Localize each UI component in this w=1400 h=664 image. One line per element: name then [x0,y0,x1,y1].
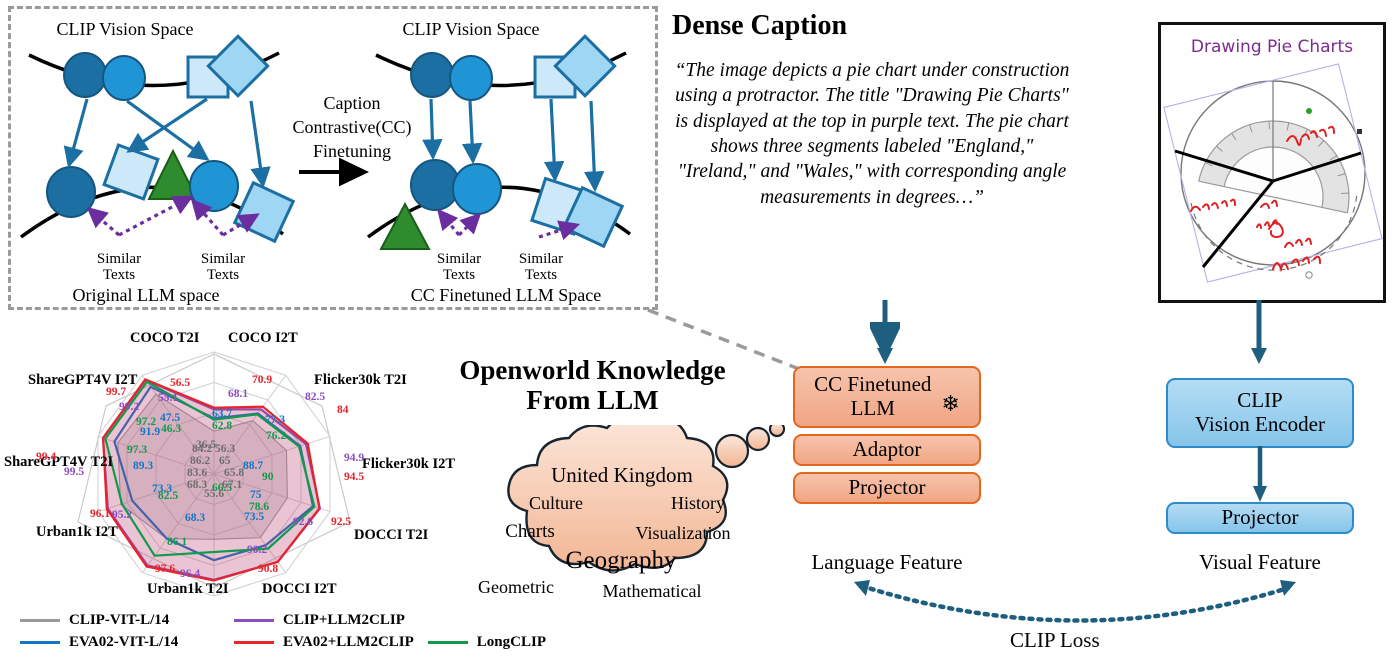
radar-axis-label-flicker30k-i2t: Flicker30k I2T [362,456,455,473]
clip-vision-encoder-line2: Vision Encoder [1195,413,1325,437]
caption-contrastive-line2: Contrastive(CC) [277,117,427,138]
radar-value-red-2: 84 [337,404,349,416]
radar-value-purple-0: 55.1 [158,392,178,404]
openworld-title-line2: From LLM [420,385,765,415]
cc-finetuned-llm-line1: CC Finetuned [814,373,931,397]
radar-value-purple-9: 99.2 [119,401,139,413]
radar-value-gray-4: 67.1 [222,479,242,491]
radar-value-green-2: 76.2 [266,430,286,442]
cloud-word-united-kingdom: United Kingdom [517,463,727,488]
radar-axis-label-flicker30k-t2i: Flicker30k T2I [314,372,407,389]
legend-swatch-eva02-vit [20,641,60,644]
radar-value-gray-8: 86.2 [190,455,210,467]
radar-value-blue-4: 75 [250,489,262,501]
clip-loss-label: CLIP Loss [1010,628,1100,653]
legend-swatch-clip-llm2clip [234,619,274,622]
cloud-word-culture: Culture [501,493,611,514]
radar-value-purple-5: 90.2 [247,544,267,556]
radar-value-purple-1: 68.1 [228,388,248,400]
radar-value-blue-3: 88.7 [243,460,263,472]
radar-value-green-7: 82.5 [158,490,178,502]
radar-value-blue-2: 77.3 [265,414,285,426]
radar-value-blue-1: 63.7 [212,408,232,420]
similar-texts-word2: Texts [501,268,581,284]
radar-value-purple-6: 96.4 [180,568,200,580]
radar-value-purple-7: 95.2 [112,509,132,521]
radar-value-purple-2: 82.5 [305,391,325,403]
openworld-title-line1: Openworld Knowledge [420,355,765,385]
similar-texts-word1: Similar [79,252,159,268]
radar-axis-label-coco-t2i: COCO T2I [130,330,199,347]
legend-row-2: EVA02-VIT-L/14 EVA02+LLM2CLIP LongCLIP [20,634,580,651]
radar-axis-label-docci-t2i: DOCCI T2I [354,527,428,544]
legend-item-eva02-vit[interactable]: EVA02-VIT-L/14 [20,634,220,651]
similar-texts-word1: Similar [183,252,263,268]
radar-value-purple-4: 92.6 [293,516,313,528]
radar-value-red-5: 90.8 [258,563,278,575]
radar-value-red-6: 97.6 [155,563,175,575]
radar-value-green-3: 90 [262,471,274,483]
clip-vision-encoder-line1: CLIP [1195,389,1325,413]
clip-vision-space-label-left: CLIP Vision Space [35,19,215,40]
radar-axis-label-coco-i2t: COCO I2T [228,330,298,347]
cc-finetuned-llm-box[interactable]: CC Finetuned LLM ❄ [793,366,981,428]
snowflake-icon: ❄ [941,392,959,417]
caption-contrastive-line1: Caption [287,93,417,114]
radar-value-green-1: 62.8 [212,420,232,432]
legend-label-clip-vit: CLIP-VIT-L/14 [69,612,169,629]
radar-axis-label-urban1k-t2i: Urban1k T2I [147,581,229,598]
dense-caption-text: “The image depicts a pie chart under con… [672,58,1072,210]
original-llm-space-label: Original LLM space [21,285,271,306]
similar-texts-word2: Texts [183,268,263,284]
pie-chart-image-card: Drawing Pie Charts [1158,22,1386,303]
radar-value-red-1: 70.9 [252,374,272,386]
cc-finetuned-llm-space-label: CC Finetuned LLM Space [371,285,641,306]
cloud-word-history: History [643,493,753,514]
openworld-knowledge-title: Openworld Knowledge From LLM [420,355,765,415]
cloud-word-visualization: Visualization [603,523,763,544]
projector-box-vision[interactable]: Projector [1166,502,1354,534]
similar-texts-word1: Similar [419,252,499,268]
similar-texts-label-r1: Similar Texts [419,252,499,284]
radar-value-red-4: 92.5 [331,516,351,528]
legend-swatch-eva02-llm2clip [234,641,274,644]
radar-legend: CLIP-VIT-L/14 CLIP+LLM2CLIP EVA02-VIT-L/… [20,612,580,656]
radar-value-gray-3: 65.8 [224,467,244,479]
caption-to-llm-arrow [870,300,900,366]
projector-box-language[interactable]: Projector [793,472,981,504]
radar-value-gray-1: 56.3 [215,443,235,455]
similar-texts-label-l1: Similar Texts [79,252,159,284]
legend-label-eva02-vit: EVA02-VIT-L/14 [69,634,178,651]
cc-finetuned-llm-line2: LLM [814,397,931,421]
radar-value-blue-8: 89.3 [133,460,153,472]
radar-value-purple-8: 99.5 [64,466,84,478]
similar-texts-word2: Texts [419,268,499,284]
legend-swatch-longclip [428,641,468,644]
adaptor-box[interactable]: Adaptor [793,434,981,466]
encoder-to-projector-arrow [1245,446,1275,504]
image-to-encoder-arrow [1244,300,1274,366]
radar-value-red-9: 99.7 [106,386,126,398]
radar-value-green-4: 78.6 [249,501,269,513]
legend-label-clip-llm2clip: CLIP+LLM2CLIP [283,612,405,629]
legend-item-clip-llm2clip[interactable]: CLIP+LLM2CLIP [234,612,405,629]
similar-texts-word1: Similar [501,252,581,268]
cloud-word-geography: Geography [531,547,711,575]
cloud-word-charts: Charts [475,521,585,543]
radar-value-green-8: 97.3 [127,444,147,456]
legend-item-longclip[interactable]: LongCLIP [428,634,546,651]
radar-value-blue-6: 68.3 [185,512,205,524]
radar-value-green-0: 46.3 [161,423,181,435]
similar-texts-label-r2: Similar Texts [501,252,581,284]
similar-texts-label-l2: Similar Texts [183,252,263,284]
radar-value-red-3: 94.5 [344,471,364,483]
clip-vision-space-label-right: CLIP Vision Space [381,19,561,40]
radar-chart: COCO T2I COCO I2T Flicker30k T2I Flicker… [0,326,430,606]
radar-value-red-7: 96.1 [90,508,110,520]
similar-texts-word2: Texts [79,268,159,284]
radar-value-red-0: 56.5 [170,377,190,389]
pie-chart-sketch [1161,25,1383,300]
knowledge-cloud: United Kingdom Culture History Charts Vi… [455,425,795,615]
radar-value-red-8: 99.4 [36,451,56,463]
cloud-word-geometric: Geometric [451,577,581,598]
radar-value-green-9: 97.2 [136,416,156,428]
radar-axis-label-urban1k-i2t: Urban1k I2T [36,524,118,541]
radar-value-gray-2: 65 [219,455,231,467]
radar-axis-label-sharegpt4v-t2i: ShareGPT4V T2I [4,454,113,471]
concept-panel: CLIP Vision Space CLIP Vision Space Capt… [8,6,658,310]
radar-value-gray-6: 68.3 [187,479,207,491]
legend-label-longclip: LongCLIP [477,634,546,651]
dense-caption-title: Dense Caption [672,10,847,42]
legend-item-eva02-llm2clip[interactable]: EVA02+LLM2CLIP [234,634,414,651]
radar-value-gray-9: 84.2 [192,443,212,455]
legend-item-clip-vit[interactable]: CLIP-VIT-L/14 [20,612,220,629]
legend-label-eva02-llm2clip: EVA02+LLM2CLIP [283,634,414,651]
legend-swatch-clip-vit [20,619,60,622]
radar-value-gray-7: 83.6 [187,467,207,479]
caption-contrastive-line3: Finetuning [287,141,417,162]
radar-value-purple-3: 94.9 [344,452,364,464]
radar-axis-label-docci-i2t: DOCCI I2T [262,581,337,598]
radar-value-green-6: 86.1 [167,536,187,548]
cloud-word-mathematical: Mathematical [577,581,727,602]
clip-vision-encoder-box[interactable]: CLIP Vision Encoder [1166,378,1354,448]
legend-row-1: CLIP-VIT-L/14 CLIP+LLM2CLIP [20,612,580,629]
